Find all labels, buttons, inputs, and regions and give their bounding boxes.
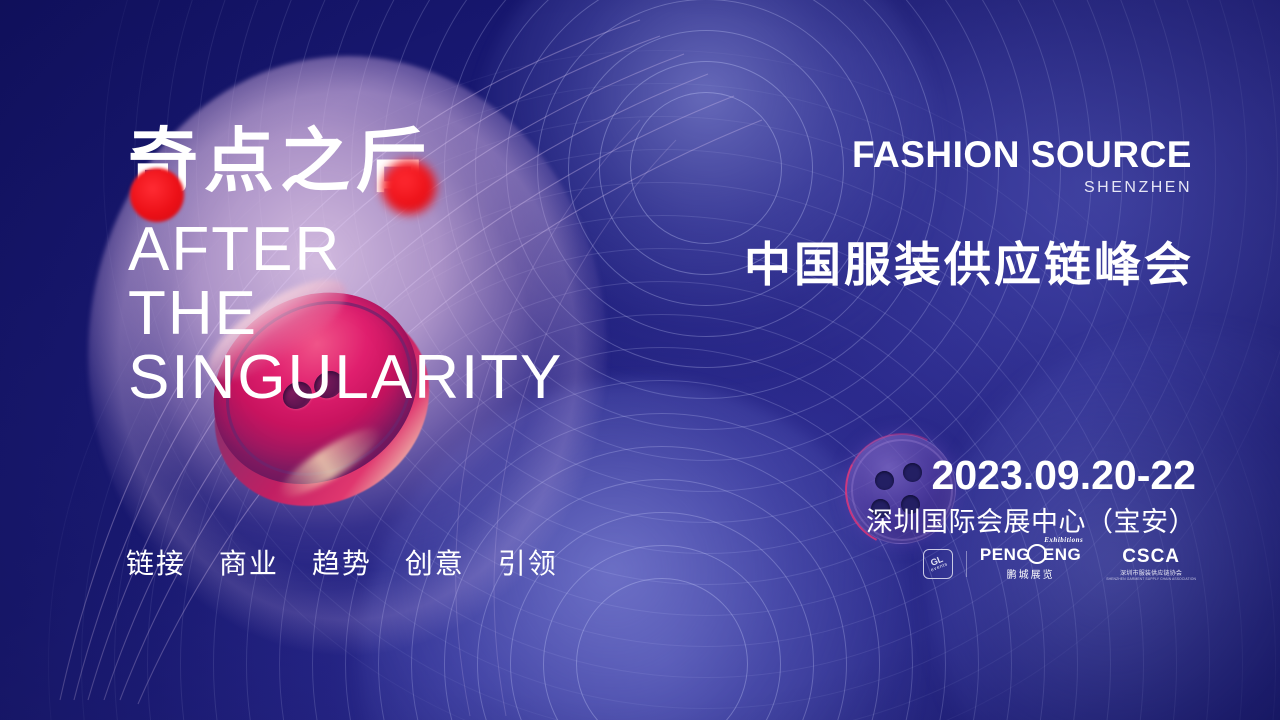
sponsor-logo-strip: GL events PENGCENG Exhibitions 鹏城展览 CSCA… — [923, 546, 1196, 581]
english-headline: AFTER THE SINGULARITY — [128, 218, 598, 410]
brand-name: FASHION SOURCE — [852, 136, 1192, 173]
keyword-item: 趋势 — [312, 547, 372, 580]
pengcheng-logo-chinese: 鹏城展览 — [980, 566, 1081, 581]
keyword-item: 链接 — [126, 547, 186, 580]
keyword-item: 商业 — [219, 547, 279, 580]
brand-block: FASHION SOURCE SHENZHEN — [852, 136, 1192, 197]
left-headline-block: 奇点之后 AFTER THE SINGULARITY — [128, 126, 598, 410]
poster-canvas: 奇点之后 AFTER THE SINGULARITY 链接 商业 趋势 创意 引… — [0, 0, 1280, 720]
red-dot-accent — [130, 168, 184, 222]
purple-button-hole — [903, 463, 922, 482]
pengcheng-logo-superscript: Exhibitions — [1044, 537, 1083, 544]
pengcheng-logo: PENGCENG Exhibitions 鹏城展览 — [980, 546, 1081, 581]
gl-events-logo-text: GL events — [927, 553, 949, 573]
gl-events-logo: GL events — [923, 549, 953, 579]
english-headline-line-2: THE — [128, 282, 598, 346]
event-venue: 深圳国际会展中心（宝安） — [866, 500, 1196, 539]
logo-divider — [966, 551, 967, 577]
english-headline-line-3: SINGULARITY — [128, 346, 598, 410]
pengcheng-logo-wordmark: PENGCENG Exhibitions — [980, 546, 1081, 563]
csca-logo-chinese: 深圳市服装供应链协会 — [1106, 568, 1196, 577]
keyword-item: 引领 — [498, 547, 558, 580]
purple-button-hole — [875, 471, 894, 490]
pengcheng-logo-ring-icon — [1027, 544, 1047, 564]
event-date: 2023.09.20-22 — [932, 452, 1196, 499]
csca-logo-wordmark: CSCA — [1106, 547, 1196, 566]
brand-city: SHENZHEN — [852, 179, 1192, 197]
pengcheng-logo-main-left: PENG — [980, 545, 1030, 564]
english-headline-line-1: AFTER — [128, 218, 598, 282]
pengcheng-logo-main-right: ENG — [1043, 545, 1081, 564]
keyword-tagline: 链接 商业 趋势 创意 引领 — [126, 542, 558, 582]
csca-logo: CSCA 深圳市服装供应链协会 SHENZHEN GARMENT SUPPLY … — [1106, 547, 1196, 581]
summit-title: 中国服装供应链峰会 — [744, 226, 1194, 295]
chinese-headline: 奇点之后 — [128, 126, 598, 196]
red-dot-accent — [382, 160, 436, 214]
keyword-item: 创意 — [405, 547, 465, 580]
csca-logo-english: SHENZHEN GARMENT SUPPLY CHAIN ASSOCIATIO… — [1106, 577, 1196, 581]
